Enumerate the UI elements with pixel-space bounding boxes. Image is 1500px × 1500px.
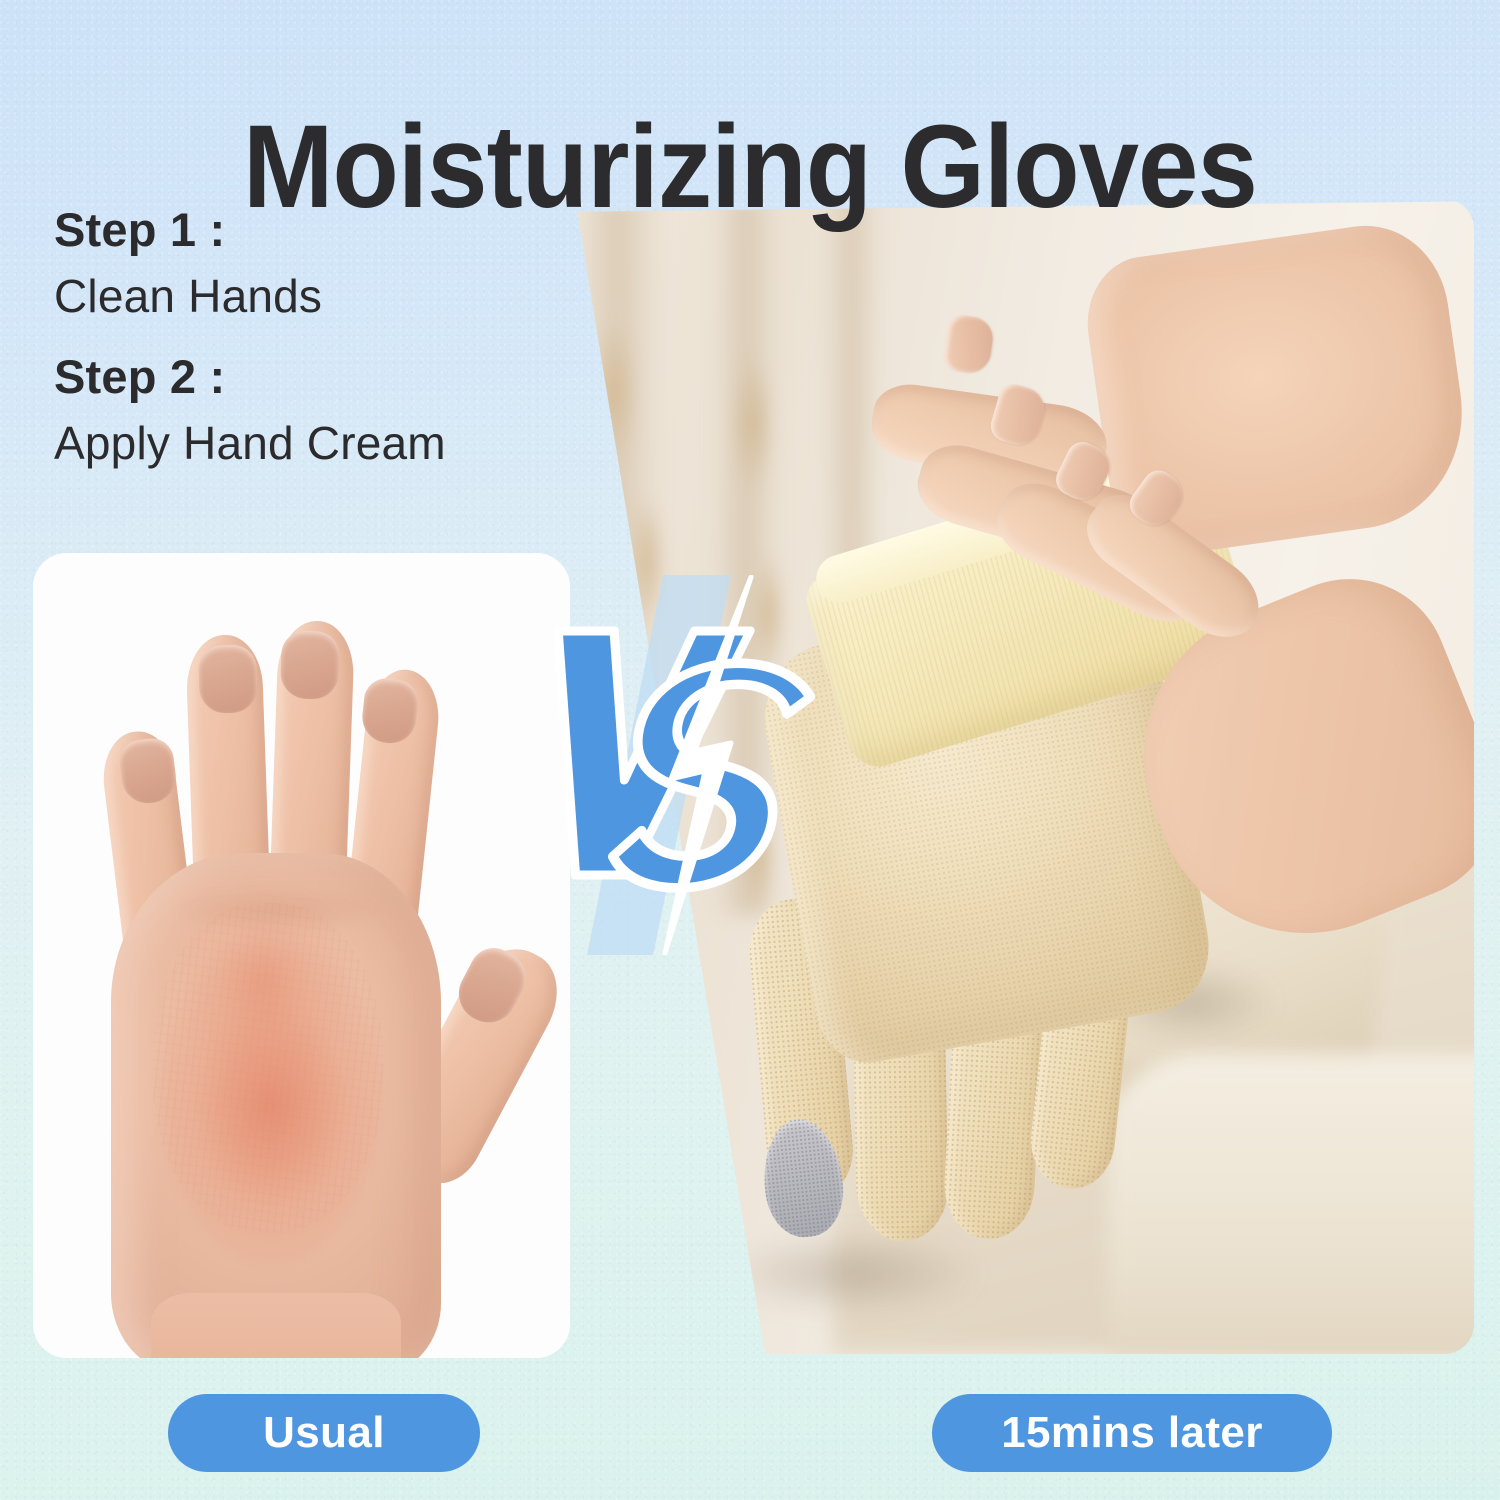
pill-label-after: 15mins later: [1001, 1408, 1263, 1458]
dry-skin-redness: [161, 933, 381, 1263]
blurred-sofa-arm: [1108, 1054, 1474, 1354]
step-2-body: Apply Hand Cream: [54, 420, 446, 466]
bare-hand: [1079, 215, 1474, 562]
step-1-heading: Step 1 :: [54, 206, 446, 253]
label-pill-after[interactable]: 15mins later: [932, 1394, 1332, 1472]
dry-hand-photo: [33, 553, 570, 1358]
label-pill-usual[interactable]: Usual: [168, 1394, 480, 1472]
instruction-steps: Step 1 : Clean Hands Step 2 : Apply Hand…: [54, 206, 446, 466]
before-photo-card: [33, 553, 570, 1358]
bare-index-nail: [942, 314, 995, 376]
dry-middle-nail: [198, 644, 258, 714]
step-2-heading: Step 2 :: [54, 353, 446, 400]
step-1-body: Clean Hands: [54, 273, 446, 319]
dry-hand-wrist: [151, 1293, 401, 1358]
pill-label-usual: Usual: [263, 1408, 385, 1458]
dry-ring-nail: [280, 630, 340, 700]
versus-badge: [545, 575, 845, 955]
